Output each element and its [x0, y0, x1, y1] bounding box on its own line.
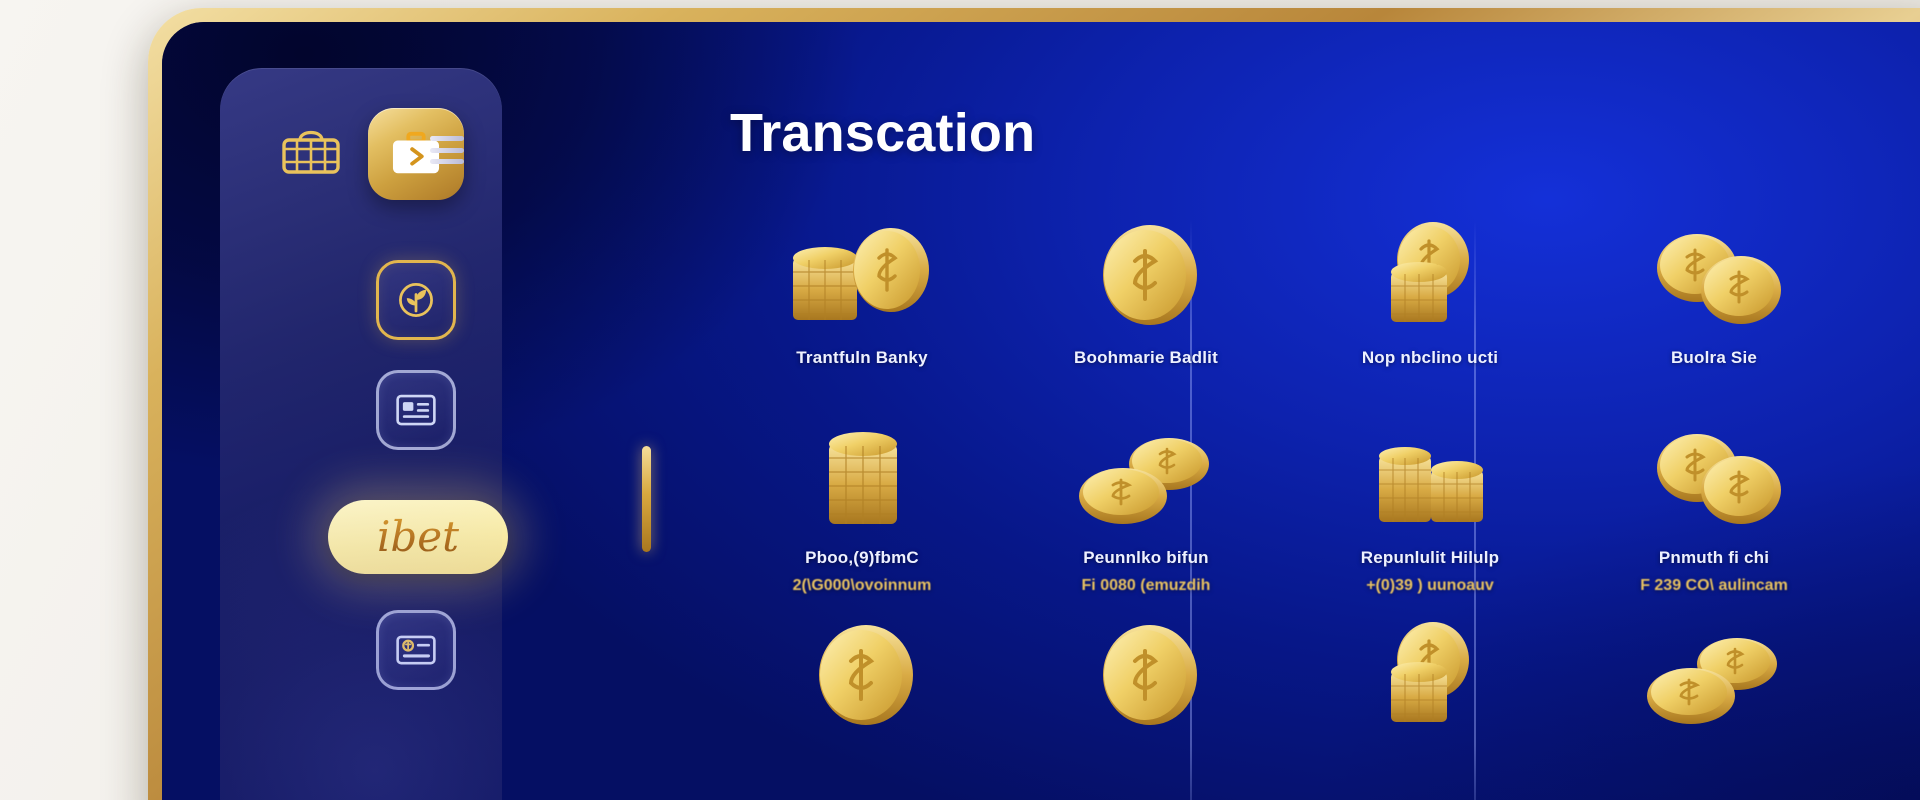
sidebar-item-globe[interactable] [376, 260, 456, 340]
page-root: ibet [0, 0, 1920, 800]
id-card-icon [395, 392, 437, 428]
transaction-name: Buolra Sie [1582, 348, 1846, 368]
transaction-name: Trantfuln Banky [730, 348, 994, 368]
coin-stack-icon [730, 620, 994, 730]
tablet-device-frame: ibet [148, 8, 1920, 800]
coin-stack-icon [1582, 420, 1846, 530]
transaction-name: Boohmarie Badlit [1014, 348, 1278, 368]
hamburger-menu-icon[interactable] [430, 136, 464, 164]
sidebar-item-wallet[interactable] [376, 610, 456, 690]
sidebar: ibet [220, 68, 502, 800]
transaction-cell[interactable]: Boohmarie Badlit [1014, 220, 1278, 416]
sidebar-top-row [220, 112, 502, 202]
sidebar-item-card[interactable] [376, 370, 456, 450]
transaction-cell[interactable]: Buolra Sie [1582, 220, 1846, 416]
coin-stack-icon [1582, 220, 1846, 330]
transaction-cell[interactable] [1014, 620, 1278, 800]
transaction-cell[interactable]: Trantfuln Banky [730, 220, 994, 416]
transaction-cell[interactable] [1298, 620, 1562, 800]
coin-stack-icon [1298, 220, 1562, 330]
transaction-name: Pnmuth fi chi [1582, 548, 1846, 568]
brand-label: ibet [377, 516, 459, 558]
coin-stack-icon [1298, 420, 1562, 530]
tablet-screen: ibet [162, 22, 1920, 800]
transaction-cell[interactable]: Pnmuth fi chiF 239 CO\ aulincam [1582, 420, 1846, 616]
coin-stack-icon [1014, 220, 1278, 330]
sidebar-scroll-handle[interactable] [642, 446, 651, 552]
transaction-cell[interactable] [730, 620, 994, 800]
coin-stack-icon [730, 220, 994, 330]
coin-stack-icon [1014, 620, 1278, 730]
wallet-card-icon [395, 632, 437, 668]
transaction-cell[interactable]: Repunlulit Hilulp+(0)39 ) uunoauv [1298, 420, 1562, 616]
transaction-name: Repunlulit Hilulp [1298, 548, 1562, 568]
transaction-cell[interactable] [1582, 620, 1846, 800]
globe-growth-icon [394, 278, 438, 322]
transaction-name: Pboo,(9)fbmC [730, 548, 994, 568]
coin-stack-icon [1582, 620, 1846, 730]
transaction-amount: 2(\G000\ovoinnum [730, 577, 994, 595]
transaction-cell[interactable]: Nop nbclino ucti [1298, 220, 1562, 416]
shopping-basket-icon[interactable] [280, 122, 342, 180]
transaction-name: Peunnlko bifun [1014, 548, 1278, 568]
main-content: Transcation Trantfuln BankyBoohmarie Bad… [502, 22, 1920, 800]
transaction-amount: +(0)39 ) uunoauv [1298, 577, 1562, 595]
brand-pill-ibet[interactable]: ibet [328, 500, 508, 574]
transaction-cell[interactable]: Peunnlko bifunFi 0080 (emuzdih [1014, 420, 1278, 616]
coin-stack-icon [1014, 420, 1278, 530]
hamburger-line [430, 148, 464, 153]
hamburger-line [430, 136, 464, 141]
page-title: Transcation [730, 102, 1035, 164]
transaction-cell[interactable]: Pboo,(9)fbmC2(\G000\ovoinnum [730, 420, 994, 616]
transaction-amount: F 239 CO\ aulincam [1582, 577, 1846, 595]
transaction-name: Nop nbclino ucti [1298, 348, 1562, 368]
hamburger-line [430, 159, 464, 164]
transaction-amount: Fi 0080 (emuzdih [1014, 577, 1278, 595]
transaction-grid: Trantfuln BankyBoohmarie BadlitNop nbcli… [730, 220, 1920, 800]
coin-stack-icon [730, 420, 994, 530]
coin-stack-icon [1298, 620, 1562, 730]
